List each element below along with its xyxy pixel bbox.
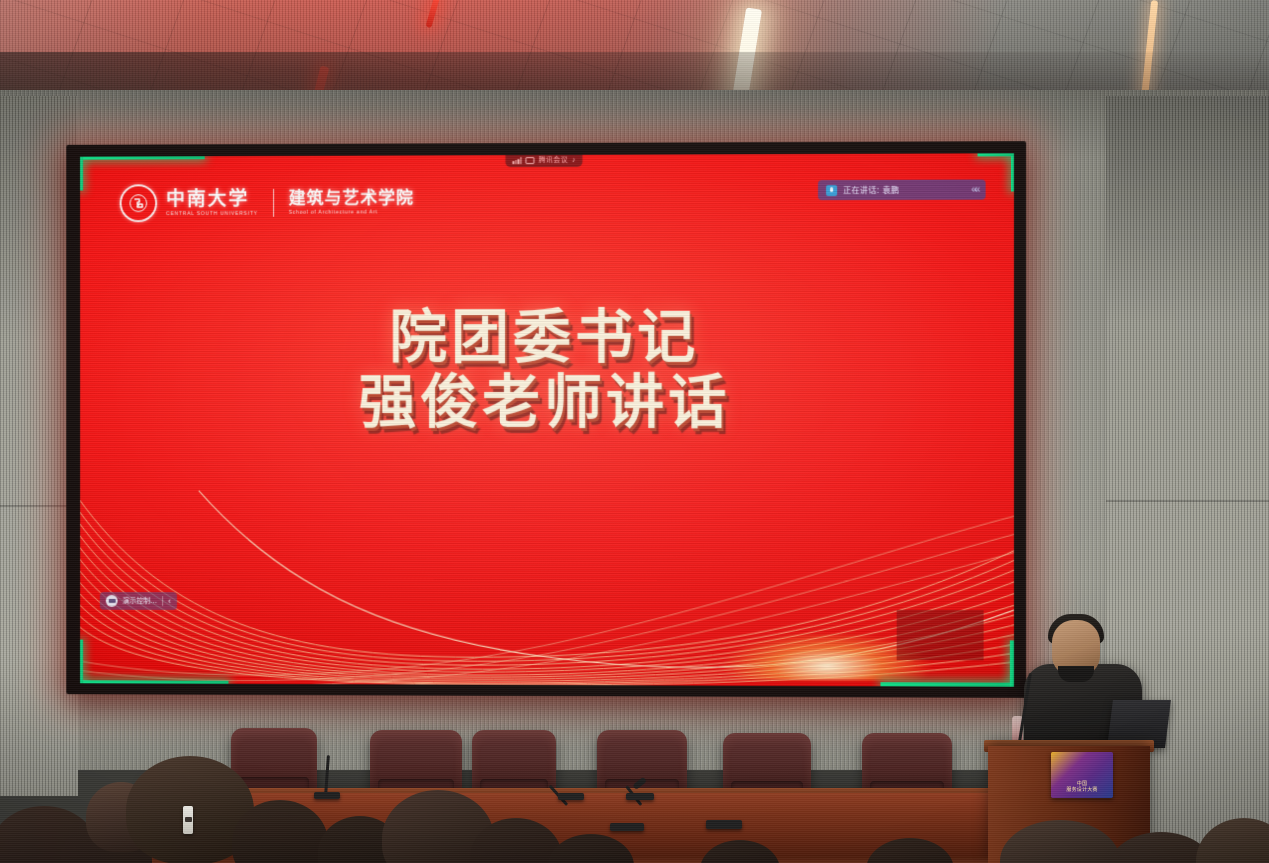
wall-seam [0,505,70,507]
wall-seam [1106,500,1269,502]
led-calibration-edge-left [80,157,83,191]
microphone-base [314,792,340,799]
hair-clip-icon [183,806,193,834]
microphone-base [706,820,742,829]
podium-sign-line-2: 服务设计大赛 [1051,787,1113,793]
led-calibration-edge-right-top [978,153,1014,156]
speaker-shirt-collar [1058,666,1094,682]
conference-hall-photo: 腾讯会议 ♪ 中南大学 CENTRAL SOUTH UNIVERSITY 建 [0,0,1269,863]
podium-sign: 中国 服务设计大赛 [1051,752,1113,798]
led-calibration-edge-bottom-left [80,680,228,684]
microphone-base [558,793,584,800]
microphone-base [610,823,644,831]
led-screen-surface: 腾讯会议 ♪ 中南大学 CENTRAL SOUTH UNIVERSITY 建 [80,153,1014,686]
led-screen[interactable]: 腾讯会议 ♪ 中南大学 CENTRAL SOUTH UNIVERSITY 建 [66,141,1026,698]
led-calibration-edge-bottom-right [881,682,1014,687]
led-calibration-edge-right-bottom [1010,640,1014,686]
microphone-base [626,793,654,800]
led-calibration-edge-left-bottom [80,640,83,684]
led-vignette-overlay [80,153,1014,686]
led-calibration-edge-top-left [80,156,205,159]
podium-sign-text: 中国 服务设计大赛 [1051,781,1113,794]
led-calibration-edge-top-right [1011,153,1014,191]
